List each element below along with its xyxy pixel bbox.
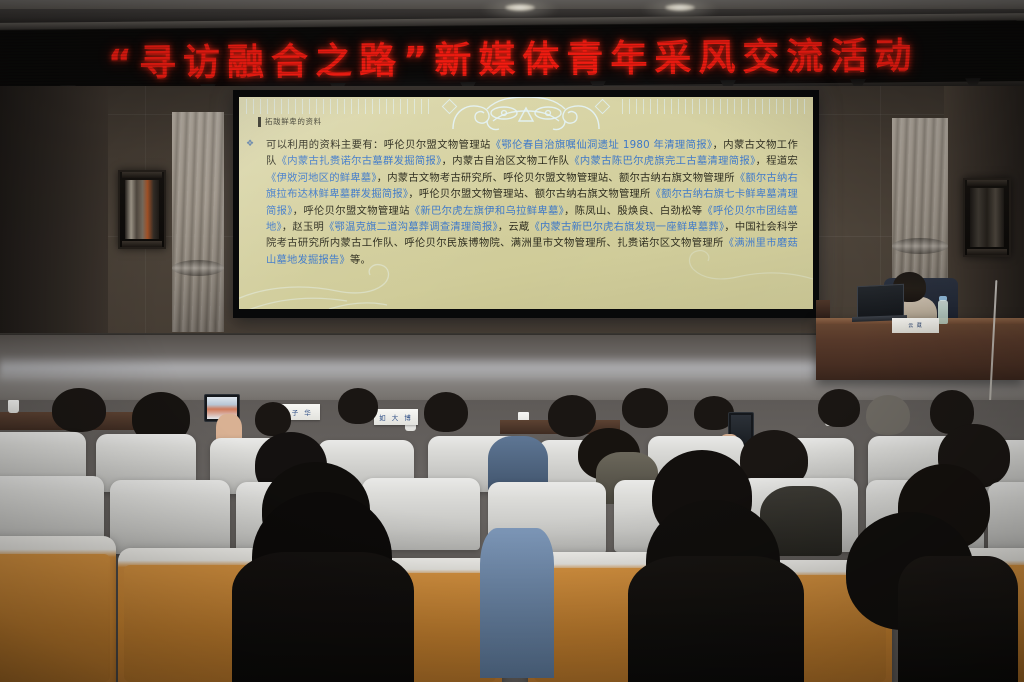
audience-person-torso (898, 556, 1018, 682)
audience-person (622, 388, 668, 428)
audience-person-torso (628, 556, 804, 682)
audience-person (255, 402, 291, 436)
seat[interactable] (110, 480, 230, 554)
audience-person (548, 395, 596, 437)
seat-front-row[interactable] (0, 536, 116, 682)
audience-person-torso (232, 552, 414, 682)
audience-person (338, 388, 378, 424)
paper-cup (8, 400, 19, 413)
conference-hall-photo: “寻访融合之路”新媒体青年采风交流活动 (0, 0, 1024, 682)
seat[interactable] (988, 482, 1024, 554)
audience-area: 孙 子 华 如 大 博 (0, 0, 1024, 682)
audience-person (818, 389, 860, 427)
audience-placard: 如 大 博 (374, 409, 418, 425)
audience-person (52, 388, 106, 432)
audience-person-torso-denim (480, 528, 554, 678)
audience-person (424, 392, 468, 432)
audience-person-gray-hair (866, 395, 910, 435)
